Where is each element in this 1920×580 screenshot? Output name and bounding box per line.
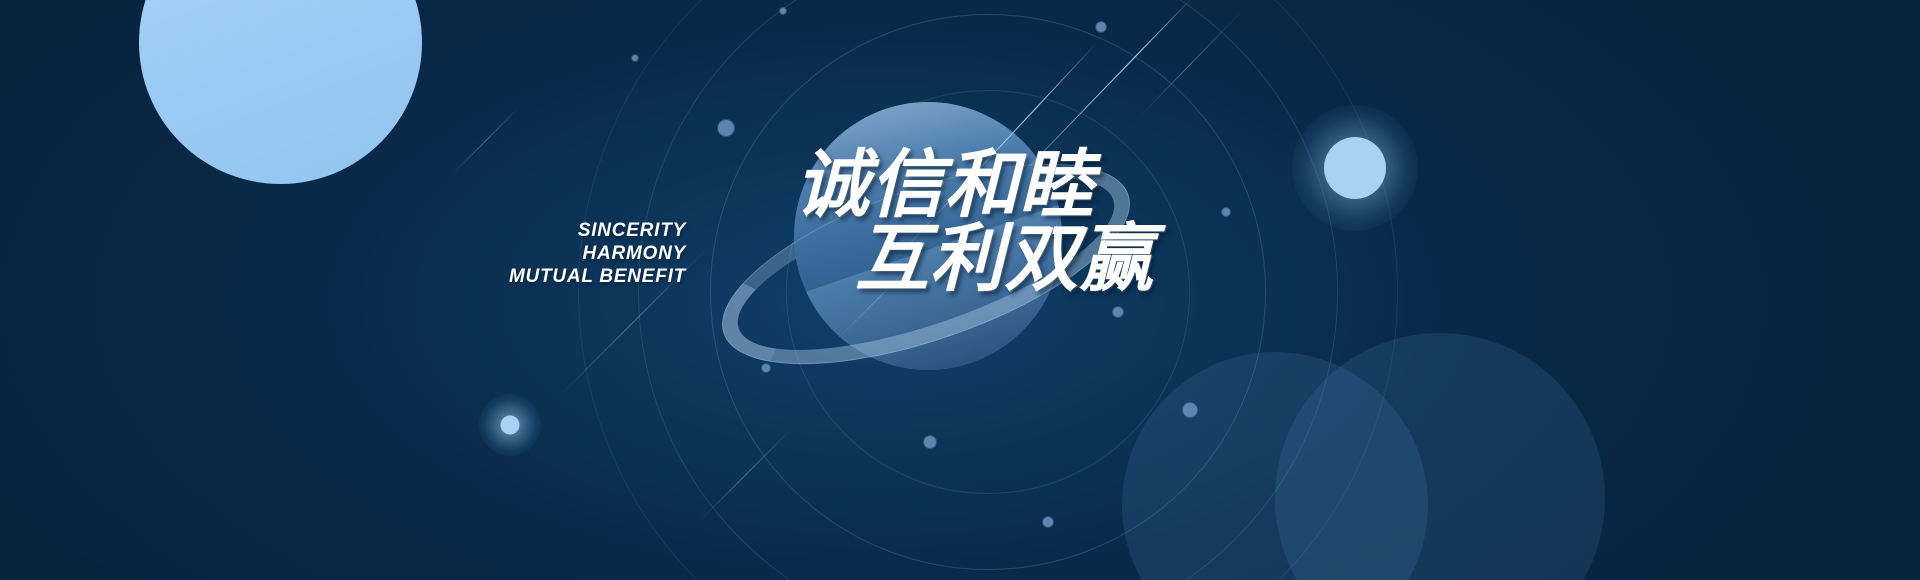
subhead-line-2: HARMONY: [426, 242, 686, 265]
headline-block: 诚信和睦 互利双赢 SINCERITY HARMONY MUTUAL BENEF…: [0, 0, 1920, 580]
glow-orb-large: [1292, 105, 1418, 231]
glow-orb-small-core: [501, 416, 520, 435]
glow-orb-small: [479, 394, 541, 456]
headline-line-1: 诚信和睦: [795, 148, 1094, 222]
hero-banner: 诚信和睦 互利双赢 SINCERITY HARMONY MUTUAL BENEF…: [0, 0, 1920, 580]
subhead-line-1: SINCERITY: [426, 219, 686, 242]
headline-line-2: 互利双赢: [855, 222, 1154, 296]
glow-orb-large-core: [1324, 137, 1386, 199]
subhead-line-3: MUTUAL BENEFIT: [426, 265, 686, 288]
